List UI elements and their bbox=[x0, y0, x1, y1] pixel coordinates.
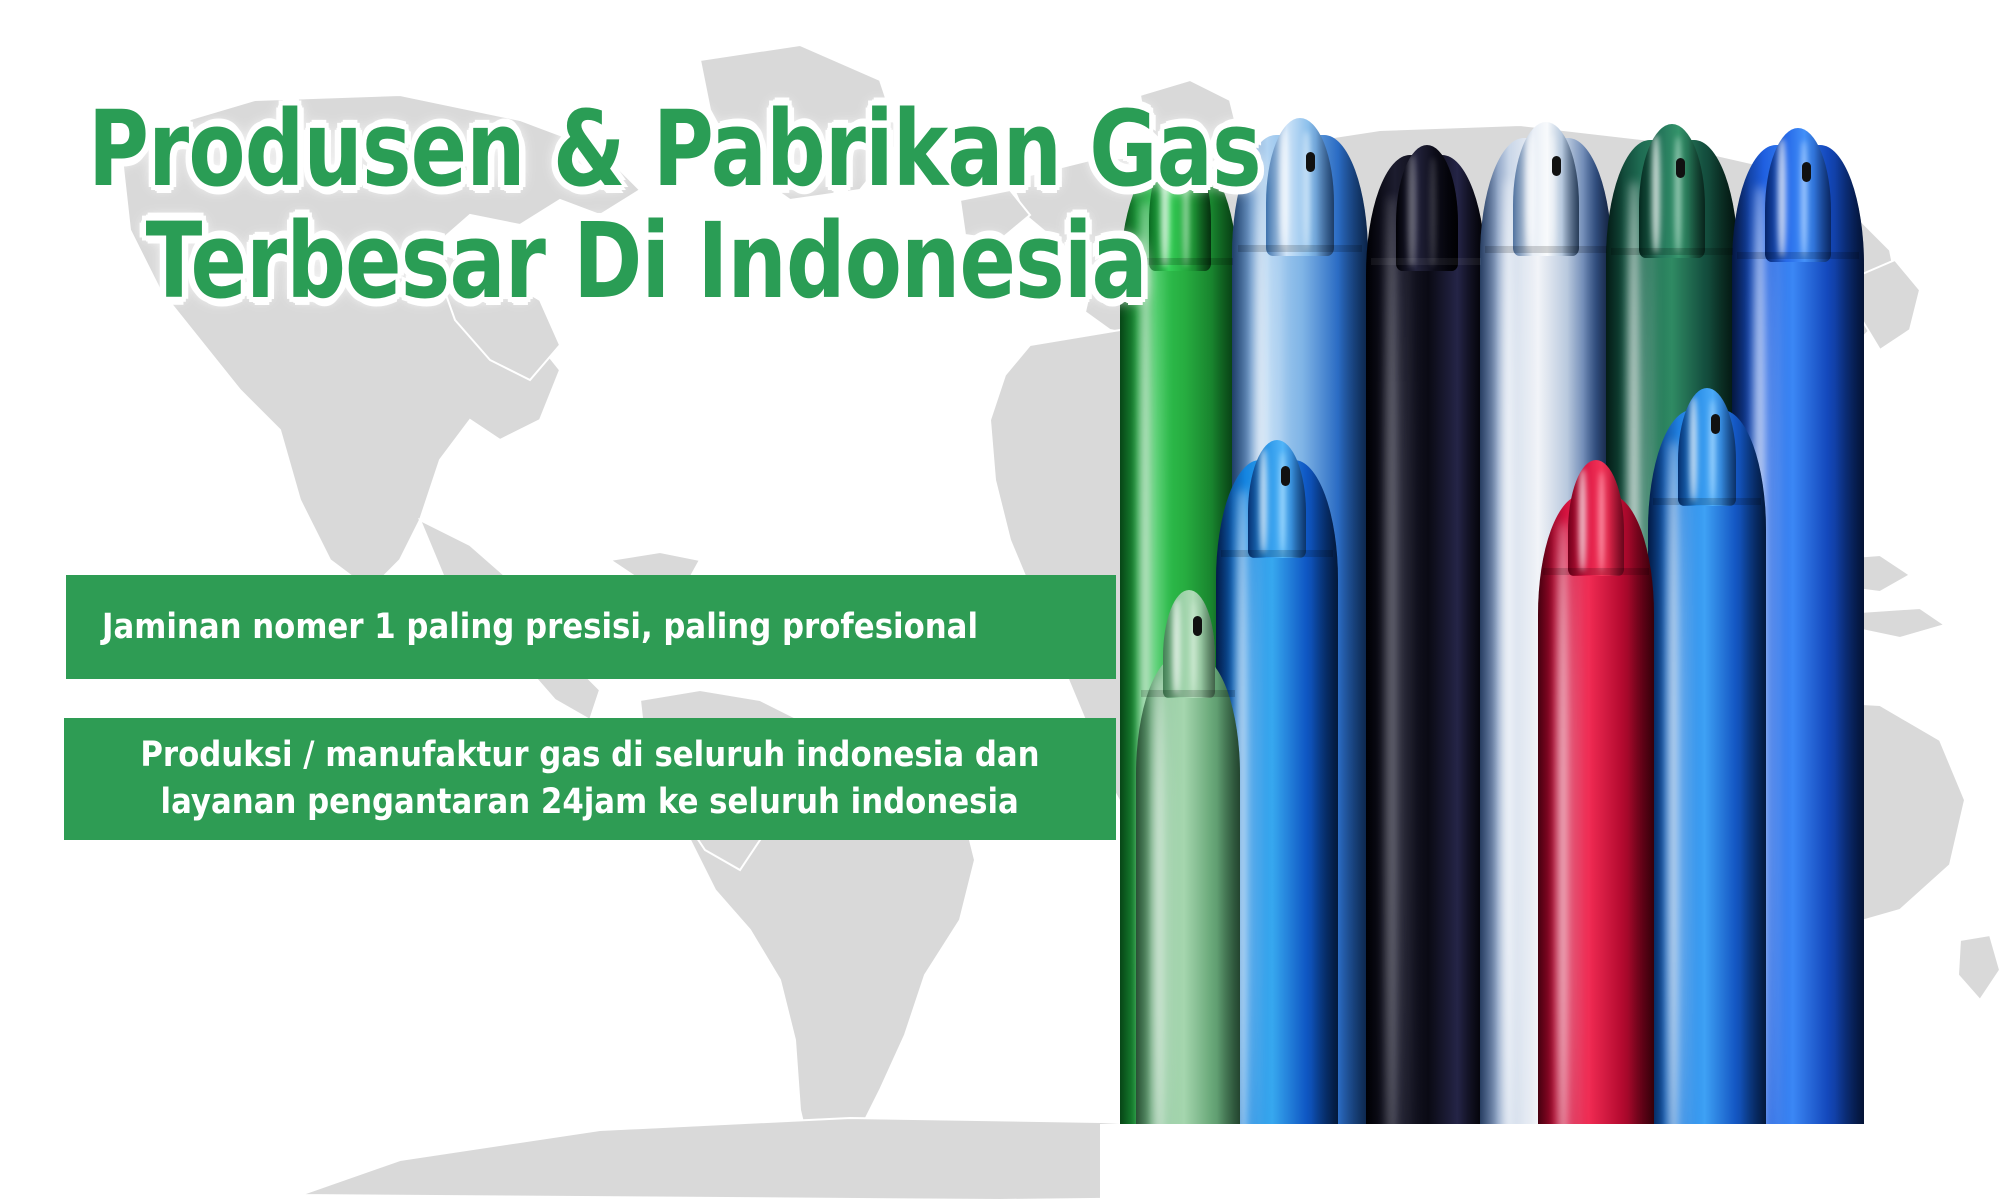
cylinder-bright-blue-valve bbox=[1248, 440, 1306, 558]
headline-line-2: Terbesar Di Indonesia bbox=[146, 208, 962, 314]
promo-production-line-1: Produksi / manufaktur gas di seluruh ind… bbox=[140, 738, 1039, 773]
cylinder-sky-blue-shoulder bbox=[1653, 498, 1761, 505]
cylinder-crimson-red-valve bbox=[1568, 460, 1624, 576]
cylinder-royal-blue-valve-hole bbox=[1802, 162, 1811, 182]
promo-banner-production: Produksi / manufaktur gas di seluruh ind… bbox=[64, 718, 1116, 840]
cylinder-light-blue-shoulder bbox=[1238, 245, 1362, 252]
page-title: Produsen & Pabrikan Gas Terbesar Di Indo… bbox=[88, 96, 1108, 314]
cylinder-silver-shoulder bbox=[1485, 246, 1607, 253]
hero-banner: Produsen & Pabrikan Gas Terbesar Di Indo… bbox=[0, 0, 2000, 1200]
cylinder-dark-teal-valve-hole bbox=[1676, 158, 1685, 178]
cylinder-sky-blue bbox=[1648, 410, 1766, 1200]
cylinder-bright-blue-valve-hole bbox=[1281, 466, 1290, 486]
cylinder-sky-blue-valve bbox=[1678, 388, 1736, 506]
cylinder-sage-green-valve-hole bbox=[1193, 616, 1202, 636]
cylinder-base-cutout bbox=[1100, 1124, 2000, 1200]
cylinder-light-blue-valve-hole bbox=[1306, 152, 1315, 172]
cylinder-sage-green bbox=[1136, 655, 1240, 1200]
cylinder-silver-valve-hole bbox=[1552, 156, 1561, 176]
cylinder-bright-blue-shoulder bbox=[1221, 550, 1333, 557]
cylinder-black bbox=[1366, 155, 1486, 1200]
promo-production-line-2: layanan pengantaran 24jam ke seluruh ind… bbox=[161, 785, 1019, 820]
promo-guarantee-text: Jaminan nomer 1 paling presisi, paling p… bbox=[102, 610, 994, 645]
promo-banner-guarantee: Jaminan nomer 1 paling presisi, paling p… bbox=[66, 575, 1116, 679]
cylinder-crimson-red bbox=[1538, 495, 1654, 1200]
cylinder-sky-blue-valve-hole bbox=[1711, 414, 1720, 434]
cylinder-crimson-red-shoulder bbox=[1543, 568, 1649, 575]
headline-line-1: Produsen & Pabrikan Gas bbox=[88, 96, 904, 202]
cylinder-black-shoulder bbox=[1371, 258, 1481, 265]
cylinder-dark-teal-shoulder bbox=[1611, 248, 1733, 255]
cylinder-sage-green-shoulder bbox=[1141, 690, 1235, 697]
cylinder-royal-blue-shoulder bbox=[1737, 252, 1859, 259]
cylinder-sage-green-valve bbox=[1163, 590, 1215, 698]
